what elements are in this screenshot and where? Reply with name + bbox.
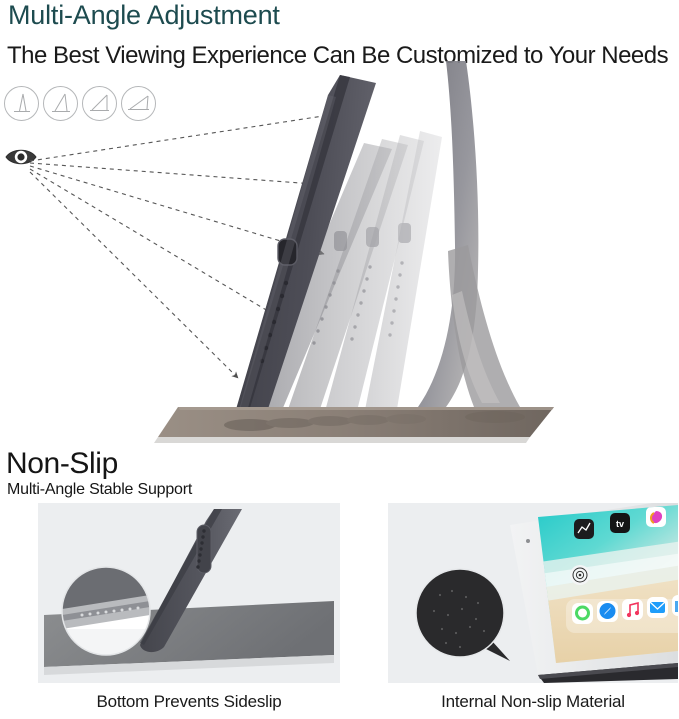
panel-caption-bottom-sideslip: Bottom Prevents Sideslip [38, 692, 340, 712]
ipad-dock [566, 595, 678, 633]
tablet-stand-multi-angle-illustration [150, 55, 620, 455]
app-icon-photos [646, 507, 666, 527]
nonslip-section-title: Non-Slip [6, 447, 118, 481]
front-camera [526, 539, 530, 543]
angle-icon-1 [4, 86, 39, 121]
dock-icon-music [622, 599, 643, 620]
app-icon-apple-tv: tv [610, 513, 630, 533]
app-icon-compass [570, 565, 590, 585]
panel-caption-internal-material: Internal Non-slip Material [388, 692, 678, 712]
ipad-device: tv [510, 503, 678, 683]
page-title: Multi-Angle Adjustment [8, 0, 280, 31]
app-icon-stocks [574, 519, 594, 539]
dock-icon-safari [597, 601, 618, 622]
svg-text:tv: tv [616, 519, 624, 529]
nonslip-section-subtitle: Multi-Angle Stable Support [7, 481, 192, 499]
dock-icon-files [672, 595, 678, 616]
eye-icon [5, 146, 39, 168]
angle-icon-2 [43, 86, 78, 121]
angle-icon-3 [82, 86, 117, 121]
panel-bottom-sideslip [38, 503, 340, 683]
dock-icon-mail [647, 597, 668, 618]
dock-icon-messages [572, 603, 593, 624]
angle-preset-icon-row [4, 86, 156, 121]
panel-internal-material: tv [388, 503, 678, 683]
